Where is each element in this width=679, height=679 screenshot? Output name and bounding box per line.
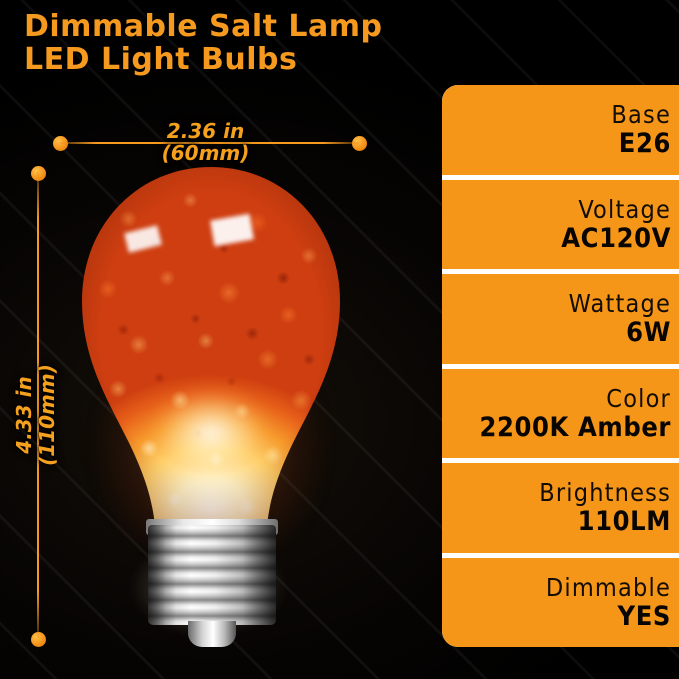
page-title: Dimmable Salt Lamp LED Light Bulbs: [24, 10, 454, 76]
spec-value-base: E26: [619, 129, 671, 159]
e26-base-contact-tip: [188, 621, 236, 647]
spec-row-color: Color 2200K Amber: [442, 369, 679, 459]
product-infographic: Dimmable Salt Lamp LED Light Bulbs 2.36 …: [0, 0, 679, 679]
spec-value-brightness: 110LM: [578, 507, 671, 537]
spec-label-base: Base: [611, 100, 671, 129]
spec-row-dimmable: Dimmable YES: [442, 558, 679, 648]
specifications-panel: Base E26 Voltage AC120V Wattage 6W Color…: [442, 85, 679, 647]
width-dimension-label: 2.36 in (60mm): [133, 120, 278, 164]
spec-row-brightness: Brightness 110LM: [442, 463, 679, 553]
spec-label-brightness: Brightness: [539, 478, 671, 507]
spec-label-wattage: Wattage: [569, 289, 671, 318]
spec-label-dimmable: Dimmable: [546, 573, 671, 602]
spec-label-color: Color: [606, 384, 671, 413]
height-dimension-label: 4.33 in (110mm): [13, 340, 59, 490]
spec-value-voltage: AC120V: [561, 224, 671, 254]
e26-screw-base-shading: [148, 525, 276, 625]
salt-lamp-bulb-image: [60, 155, 380, 660]
spec-row-voltage: Voltage AC120V: [442, 180, 679, 270]
spec-row-base: Base E26: [442, 85, 679, 175]
spec-value-dimmable: YES: [618, 602, 671, 632]
spec-value-wattage: 6W: [626, 318, 671, 348]
spec-label-voltage: Voltage: [578, 195, 671, 224]
spec-row-wattage: Wattage 6W: [442, 274, 679, 364]
spec-value-color: 2200K Amber: [480, 413, 671, 443]
